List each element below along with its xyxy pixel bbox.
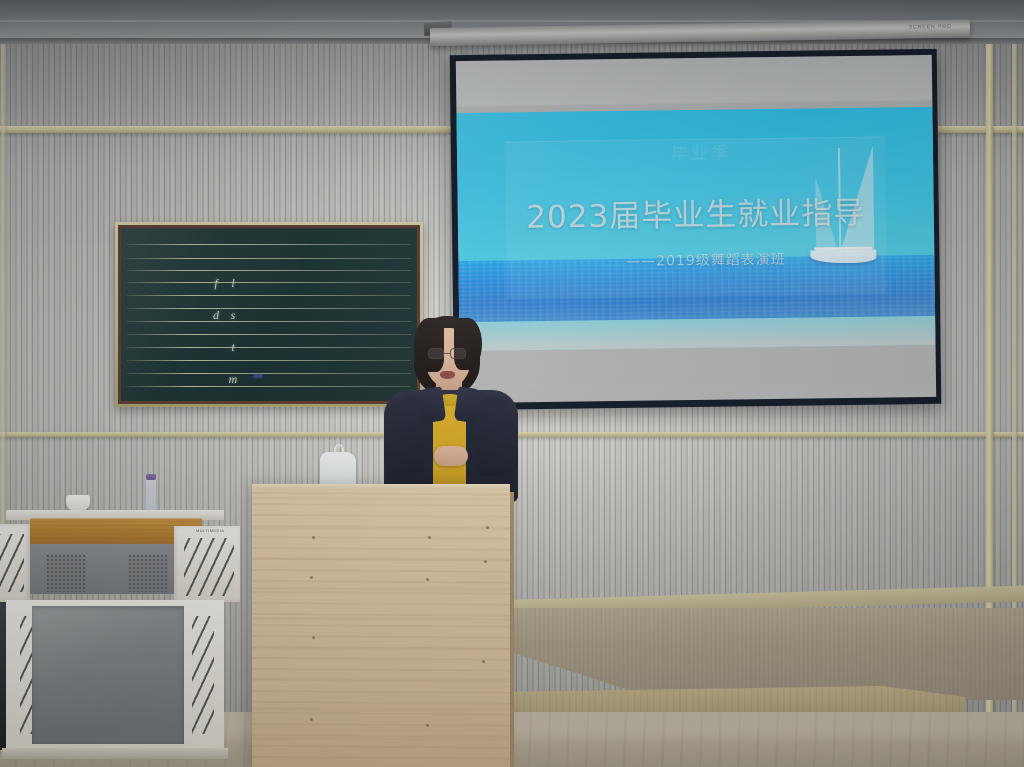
slide-watermark-text: 毕业季 bbox=[671, 138, 731, 164]
blackboard: l s t m f d bbox=[115, 222, 423, 407]
table-screw bbox=[426, 578, 429, 581]
table-screw bbox=[310, 576, 313, 579]
podium-cabinet-door[interactable] bbox=[32, 606, 184, 744]
presenter bbox=[378, 316, 524, 502]
table-screw bbox=[428, 536, 431, 539]
glasses-right-lens bbox=[450, 348, 466, 359]
table-top-edge bbox=[252, 484, 510, 490]
presenter-mouth bbox=[440, 371, 455, 379]
podium-speaker-left bbox=[46, 554, 86, 592]
presenter-hair-left bbox=[414, 318, 444, 372]
classroom-photo: l s t m f d SCREEN PRO bbox=[0, 0, 1024, 767]
water-bottle-cap bbox=[146, 474, 156, 480]
white-bag bbox=[320, 452, 356, 488]
podium-right-vent bbox=[184, 538, 234, 596]
podium-base bbox=[2, 748, 228, 759]
blackboard-inner-edge bbox=[118, 225, 420, 404]
table-screw bbox=[310, 718, 313, 721]
presenter-right-arm bbox=[476, 402, 518, 476]
podium-speaker-right bbox=[128, 554, 168, 592]
water-bottle bbox=[146, 478, 156, 512]
wooden-lectern-table bbox=[252, 484, 510, 767]
table-screw bbox=[426, 724, 429, 727]
table-screw bbox=[486, 526, 489, 529]
podium-right-side-panel: MULTIMEDIA bbox=[174, 526, 240, 602]
presenter-hands bbox=[434, 446, 468, 466]
glasses-left-lens bbox=[428, 348, 444, 359]
table-wood-grain bbox=[252, 484, 510, 767]
podium-left-side-panel bbox=[0, 524, 30, 602]
podium-door-gloss bbox=[32, 606, 184, 744]
multimedia-podium[interactable]: MULTIMEDIA bbox=[0, 500, 246, 767]
projector-screen-surface: 毕业季 2023届毕业生就业指导 ——2019级舞蹈表演班 bbox=[456, 55, 936, 403]
slide-subtitle: ——2019级舞蹈表演班 bbox=[626, 249, 786, 271]
presenter-left-arm bbox=[384, 402, 424, 474]
podium-brand-label: MULTIMEDIA bbox=[196, 528, 224, 533]
screen-brand-label: SCREEN PRO bbox=[909, 24, 952, 31]
white-cup bbox=[66, 495, 90, 511]
podium-cabinet-vent-right bbox=[192, 616, 214, 734]
podium-left-vent bbox=[0, 534, 24, 592]
table-screw bbox=[312, 536, 315, 539]
table-screw bbox=[312, 636, 315, 639]
table-screw bbox=[482, 660, 485, 663]
glasses-bridge bbox=[444, 353, 450, 354]
slide-title: 2023届毕业生就业指导 bbox=[526, 188, 865, 237]
slide-shoreline bbox=[459, 316, 935, 351]
presentation-slide: 毕业季 2023届毕业生就业指导 ——2019级舞蹈表演班 bbox=[456, 107, 935, 351]
table-screw bbox=[484, 560, 487, 563]
presenter-hair-right bbox=[454, 318, 482, 370]
